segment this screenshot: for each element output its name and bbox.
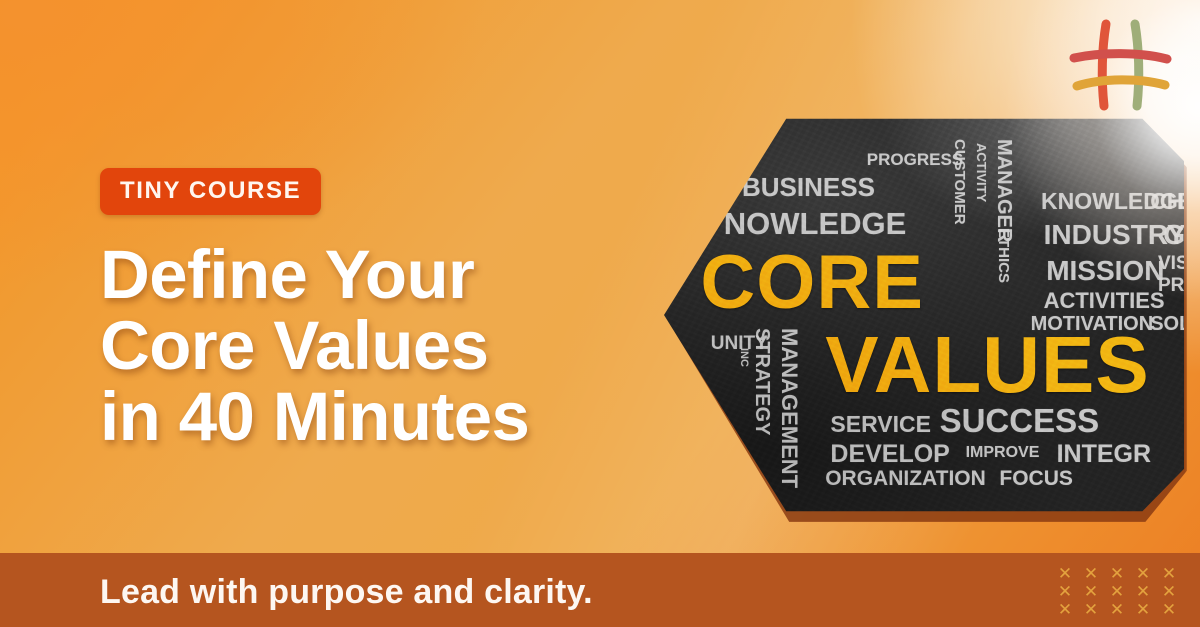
- word-cloud-word: INC: [738, 348, 750, 367]
- word-cloud-word: MANAGER: [992, 139, 1015, 242]
- word-cloud-word: ACTIVITY: [974, 143, 989, 202]
- word-cloud-word: ACTIVITIES: [1044, 288, 1165, 314]
- word-cloud-word: G: [1163, 219, 1184, 251]
- tagline: Lead with purpose and clarity.: [100, 573, 593, 612]
- word-cloud-word: VIS: [1158, 253, 1184, 275]
- word-cloud-word: FOCUS: [999, 467, 1073, 491]
- x-mark-icon: ✕: [1104, 601, 1130, 619]
- x-mark-icon: ✕: [1078, 601, 1104, 619]
- word-cloud-word: CUSTOMER: [951, 139, 968, 225]
- promo-banner: PROGRESSBUSINESSNOWLEDGECUSTOMERACTIVITY…: [0, 0, 1200, 627]
- x-mark-icon: ✕: [1130, 565, 1156, 583]
- x-mark-icon: ✕: [1130, 601, 1156, 619]
- x-mark-grid: ✕✕✕✕✕✕✕✕✕✕✕✕✕✕✕: [1052, 565, 1182, 619]
- word-cloud-word: MANAGEMENT: [776, 328, 802, 488]
- page-title-line-2: Core Values: [100, 310, 720, 381]
- x-mark-icon: ✕: [1156, 583, 1182, 601]
- word-cloud-text-layer: PROGRESSBUSINESSNOWLEDGECUSTOMERACTIVITY…: [664, 92, 1184, 538]
- x-mark-icon: ✕: [1078, 583, 1104, 601]
- word-cloud-word: NOWLEDGE: [724, 206, 907, 242]
- word-cloud-word: DEVELOP: [830, 440, 949, 469]
- x-mark-icon: ✕: [1078, 565, 1104, 583]
- word-cloud-word: MISSION: [1046, 255, 1164, 287]
- word-cloud-word: ETHICS: [995, 228, 1012, 283]
- word-cloud-word: IMPROVE: [966, 444, 1040, 462]
- x-mark-icon: ✕: [1156, 565, 1182, 583]
- word-cloud-word: BUSINESS: [742, 172, 875, 203]
- x-mark-icon: ✕: [1156, 601, 1182, 619]
- word-cloud-highlight-core: CORE: [700, 239, 924, 326]
- word-cloud-word: INTEGR: [1057, 440, 1151, 469]
- hero-image-container: PROGRESSBUSINESSNOWLEDGECUSTOMERACTIVITY…: [664, 92, 1184, 538]
- bottom-bar: Lead with purpose and clarity. ✕✕✕✕✕✕✕✕✕…: [0, 553, 1200, 627]
- brand-cross-logo: [1068, 14, 1172, 114]
- x-mark-icon: ✕: [1052, 565, 1078, 583]
- x-mark-icon: ✕: [1052, 601, 1078, 619]
- word-cloud-highlight-values: VALUES: [825, 319, 1150, 411]
- x-mark-icon: ✕: [1052, 583, 1078, 601]
- page-title-line-1: Define Your: [100, 239, 720, 310]
- page-title: Define YourCore Valuesin 40 Minutes: [100, 239, 720, 452]
- page-title-line-3: in 40 Minutes: [100, 381, 720, 452]
- word-cloud-word: CH: [1150, 188, 1183, 215]
- hexagon-word-cloud-image: PROGRESSBUSINESSNOWLEDGECUSTOMERACTIVITY…: [664, 92, 1184, 538]
- word-cloud-word: SOL: [1150, 313, 1184, 336]
- x-mark-icon: ✕: [1104, 565, 1130, 583]
- tiny-course-badge: TINY COURSE: [100, 168, 321, 215]
- word-cloud-word: ORGANIZATION: [825, 467, 986, 491]
- x-mark-icon: ✕: [1130, 583, 1156, 601]
- word-cloud-word: STRATEGY: [750, 328, 773, 435]
- x-mark-icon: ✕: [1104, 583, 1130, 601]
- copy-block: TINY COURSE Define YourCore Valuesin 40 …: [100, 168, 720, 452]
- word-cloud-word: SERVICE: [830, 411, 931, 438]
- word-cloud-word: PROGRESS: [867, 150, 963, 170]
